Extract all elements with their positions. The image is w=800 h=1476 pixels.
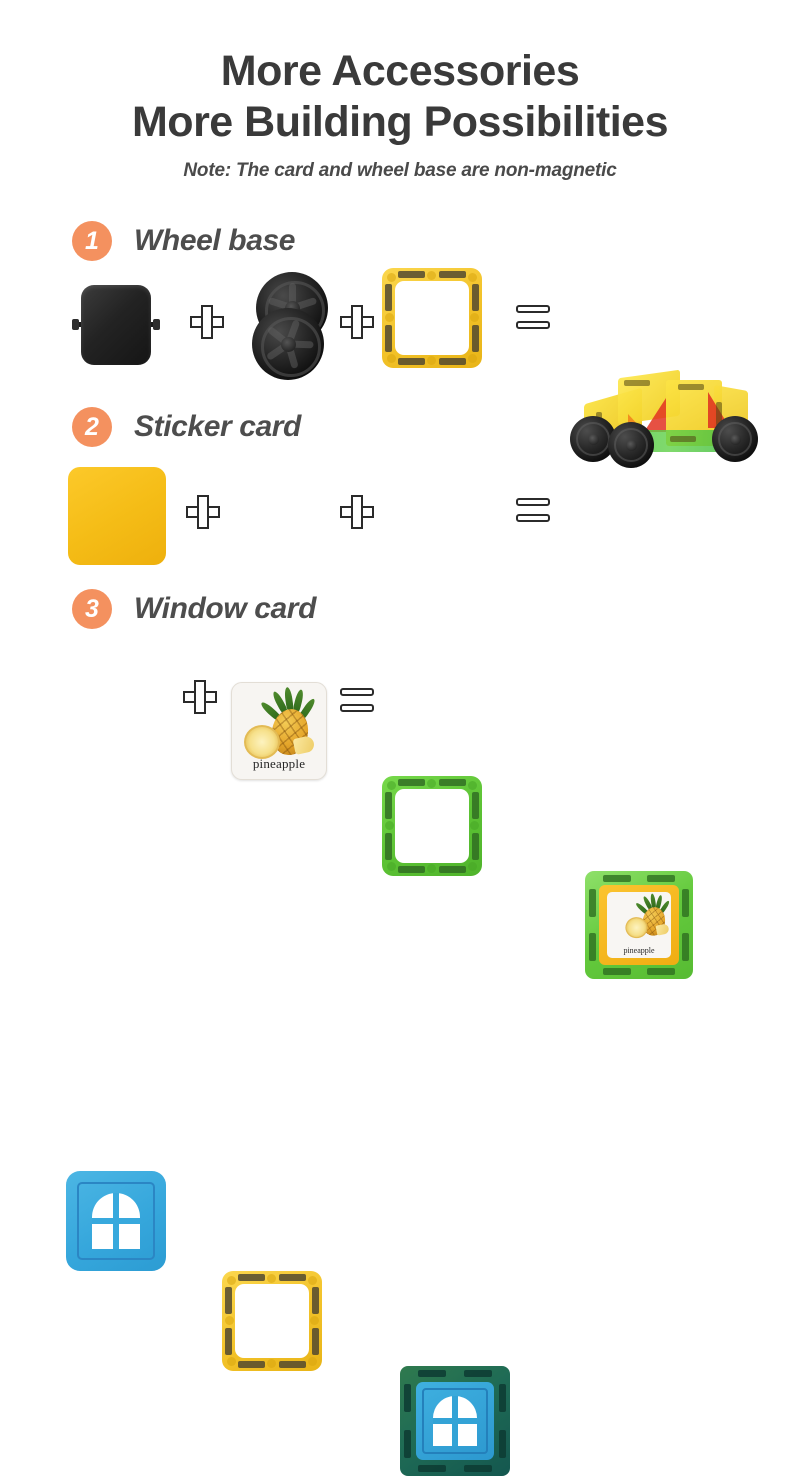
- axle-tip-left: [72, 319, 79, 330]
- pineapple-illustration: [624, 896, 654, 921]
- assembly-sticker-caption: pineapple: [607, 946, 671, 955]
- equals-icon: [340, 688, 374, 714]
- row-label-sticker-card: Sticker card: [134, 410, 301, 444]
- plus-icon: [183, 680, 217, 714]
- pineapple-wedge: [293, 735, 316, 755]
- equals-icon: [516, 305, 550, 331]
- plus-icon: [190, 305, 224, 339]
- car-wheel-middle: [608, 422, 654, 468]
- axle-block-body: [81, 285, 151, 365]
- axle-block-piece: [72, 280, 160, 370]
- row-header-wheel-base: 1 Wheel base: [72, 221, 295, 261]
- pineapple-sticker-card: pineapple: [231, 682, 327, 780]
- wheels-piece: [238, 272, 330, 382]
- yellow-magnetic-tile: [382, 268, 482, 368]
- page-title-line-2: More Building Possibilities: [0, 97, 800, 147]
- row-header-window-card: 3 Window card: [72, 589, 316, 629]
- pineapple-slice: [244, 725, 280, 759]
- row-label-wheel-base: Wheel base: [134, 224, 295, 258]
- pineapple-illustration: [242, 691, 316, 753]
- step-badge-3: 3: [72, 589, 112, 629]
- step-badge-1: 1: [72, 221, 112, 261]
- page-title-line-1: More Accessories: [0, 46, 800, 96]
- product-infographic: More Accessories More Building Possibili…: [0, 0, 800, 800]
- blue-window-card: [66, 1171, 166, 1271]
- car-wheel-rear: [712, 416, 758, 462]
- step-badge-2: 2: [72, 407, 112, 447]
- assembly-sticker-face: pineapple: [607, 892, 671, 958]
- window-icon: [433, 1396, 477, 1446]
- yellow-card: [68, 467, 166, 565]
- row-header-sticker-card: 2 Sticker card: [72, 407, 301, 447]
- row-label-window-card: Window card: [134, 592, 316, 626]
- assembled-window-tile: [400, 1366, 510, 1476]
- window-icon: [92, 1193, 140, 1249]
- tile-window: [395, 281, 469, 355]
- equals-icon: [516, 498, 550, 524]
- sticker-caption: pineapple: [232, 756, 326, 772]
- plus-icon: [186, 495, 220, 529]
- assembly-blue-card: [416, 1382, 494, 1460]
- plus-icon: [340, 305, 374, 339]
- assembled-sticker-tile: pineapple: [585, 871, 693, 979]
- wheel-lower: [252, 308, 324, 380]
- green-magnetic-tile: [382, 776, 482, 876]
- axle-tip-right: [153, 319, 160, 330]
- assembled-car: [566, 358, 766, 473]
- yellow-magnetic-tile: [222, 1271, 322, 1371]
- tile-window: [235, 1284, 309, 1358]
- plus-icon: [340, 495, 374, 529]
- tile-window: [395, 789, 469, 863]
- note-text: Note: The card and wheel base are non-ma…: [0, 160, 800, 182]
